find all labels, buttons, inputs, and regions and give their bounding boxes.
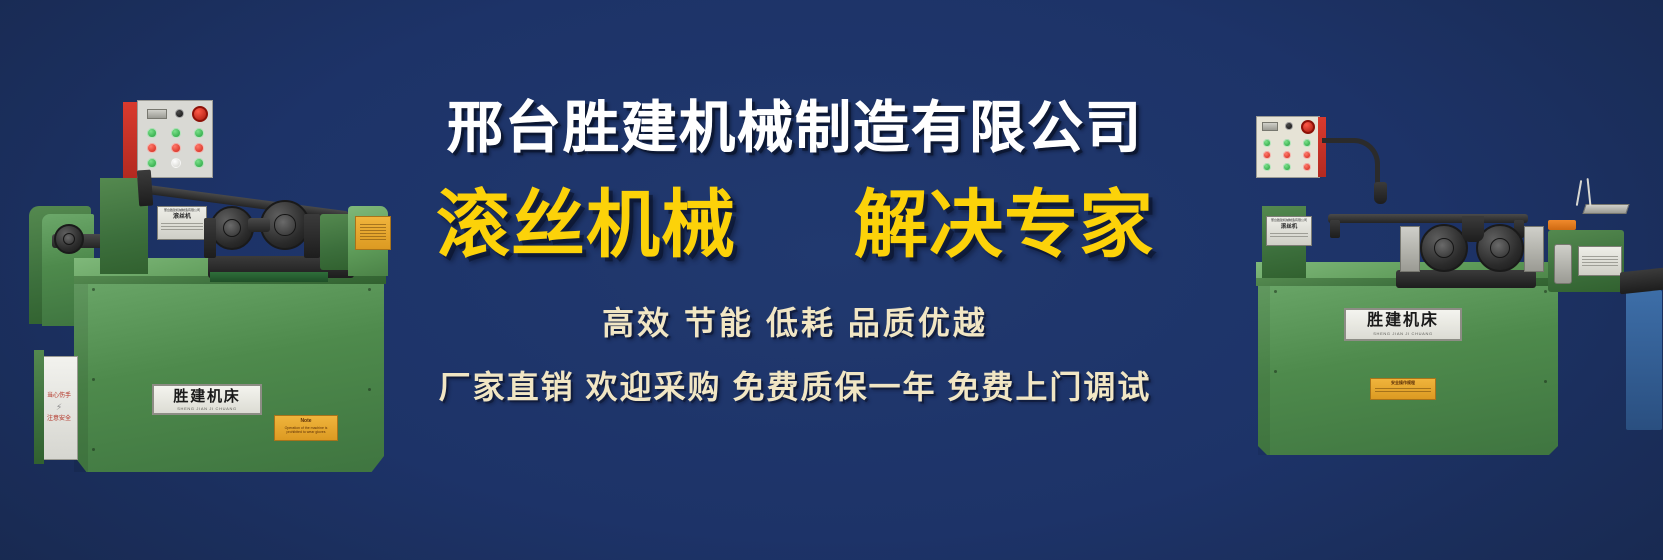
- spec-plate-rows: [1270, 233, 1308, 237]
- machine-main-body: [74, 272, 384, 472]
- nameplate-pinyin: SHENG JIAN JI CHUANG: [177, 407, 236, 411]
- die-holder-right: [1524, 226, 1544, 272]
- cable-connector: [1374, 182, 1387, 204]
- body-bolt: [1544, 380, 1547, 383]
- emergency-stop-button[interactable]: [192, 106, 208, 122]
- control-panel-face: [137, 100, 213, 178]
- selector-knob: [175, 109, 184, 118]
- feeder-spec-plate: [1578, 246, 1622, 276]
- cabinet-frame: [34, 350, 44, 464]
- spec-plate-model: 滚丝机: [161, 214, 203, 222]
- nameplate-chinese: 胜建机床: [173, 389, 240, 404]
- machine-spec-plate: 邢台胜建机械制造有限公司 滚丝机: [1266, 216, 1312, 246]
- cabinet-warning-line-1: 当心伤手: [47, 392, 71, 401]
- hydraulic-cylinder: [1554, 244, 1572, 284]
- sub-line-benefits: 高效 节能 低耗 品质优越: [602, 298, 988, 344]
- body-bolt: [1274, 290, 1277, 293]
- indicator-green-5[interactable]: [194, 158, 204, 168]
- banner-copy: 邢台胜建机械制造有限公司 滚丝机械 解决专家 高效 节能 低耗 品质优越 厂家直…: [400, 0, 1190, 560]
- promotional-banner: 邢台胜建机械制造有限公司 滚丝机 胜建机床 SHENG JIAN JI CHUA…: [0, 0, 1663, 560]
- air-line-2: [1587, 178, 1592, 206]
- indicator-green-4[interactable]: [147, 158, 157, 168]
- indicator-green-2[interactable]: [1283, 139, 1291, 147]
- electrical-cabinet-door: 当心伤手 ⚡ 注意安全: [40, 356, 78, 460]
- roller-connecting-shaft: [248, 218, 270, 232]
- body-bolt: [368, 388, 371, 391]
- warning-plate-rows: [1373, 388, 1433, 392]
- coolant-tank: [1626, 290, 1662, 430]
- sub-line-offers: 厂家直销 欢迎采购 免费质保一年 免费上门调试: [439, 362, 1152, 408]
- brand-nameplate: 胜建机床 SHENG JIAN JI CHUANG: [1344, 308, 1462, 341]
- body-bolt: [368, 288, 371, 291]
- arm-bracket: [137, 170, 153, 207]
- indicator-green-2[interactable]: [171, 128, 181, 138]
- air-line-1: [1576, 180, 1582, 206]
- roller-die-left: [1420, 224, 1468, 272]
- feeder-spec-rows: [1582, 250, 1618, 266]
- spec-plate-company: 邢台胜建机械制造有限公司: [161, 209, 203, 213]
- indicator-red-4[interactable]: [1303, 163, 1311, 171]
- indicator-green-1[interactable]: [147, 128, 157, 138]
- headline-row: 滚丝机械 解决专家: [400, 186, 1190, 264]
- indicator-red-1[interactable]: [147, 143, 157, 153]
- warning-plate-title: Note: [277, 418, 335, 424]
- warning-plate-body: 安全操作规程: [1370, 378, 1436, 400]
- indicator-green-4[interactable]: [1263, 163, 1271, 171]
- nameplate-chinese: 胜建机床: [1367, 313, 1439, 329]
- indicator-red-2[interactable]: [171, 143, 181, 153]
- spec-plate-company: 邢台胜建机械制造有限公司: [1270, 219, 1308, 223]
- body-shadow: [1258, 275, 1270, 455]
- machine-left-thread-roller: 邢台胜建机械制造有限公司 滚丝机 胜建机床 SHENG JIAN JI CHUA…: [12, 88, 412, 480]
- meter-display: [1262, 122, 1278, 131]
- cable-conduit: [1322, 138, 1380, 190]
- cabinet-warning-line-2: 注意安全: [47, 415, 71, 424]
- machine-right-thread-roller: 邢台胜建机械制造有限公司 滚丝机 胜建机床 SHENG JIAN JI CHUA…: [1248, 120, 1663, 460]
- body-bolt: [1274, 370, 1277, 373]
- control-panel-face: [1256, 116, 1320, 178]
- headline-left: 滚丝机械: [436, 186, 736, 264]
- rail-support-left: [1330, 220, 1340, 238]
- chip-tray: [210, 272, 328, 282]
- roller-base-plate: [1396, 270, 1536, 288]
- control-panel: [123, 100, 213, 178]
- warning-plate-text: Operation of the machine is prohibited t…: [277, 426, 335, 434]
- warning-plate-upper: [355, 216, 391, 250]
- indicator-red-2[interactable]: [1283, 151, 1291, 159]
- control-panel: [1256, 116, 1328, 178]
- indicator-green-3[interactable]: [1303, 139, 1311, 147]
- indicator-green-1[interactable]: [1263, 139, 1271, 147]
- warning-plate-upper-rows: [358, 219, 388, 240]
- spec-plate-model: 滚丝机: [1270, 224, 1308, 231]
- manifold-block: [1548, 220, 1576, 230]
- overhead-rail: [1328, 214, 1528, 223]
- nameplate-pinyin: SHENG JIAN JI CHUANG: [1373, 332, 1432, 336]
- roller-support-left: [204, 218, 216, 258]
- selector-knob: [1285, 122, 1293, 130]
- indicator-red-3[interactable]: [194, 143, 204, 153]
- cabinet-warning-icon: ⚡: [47, 401, 71, 415]
- brand-nameplate: 胜建机床 SHENG JIAN JI CHUANG: [152, 384, 262, 415]
- center-bracket: [1462, 216, 1484, 242]
- indicator-white-1[interactable]: [171, 158, 181, 168]
- machine-main-body: [1258, 275, 1558, 455]
- indicator-red-3[interactable]: [1303, 151, 1311, 159]
- spec-plate-rows: [161, 223, 203, 230]
- body-bolt: [1544, 290, 1547, 293]
- indicator-green-5[interactable]: [1283, 163, 1291, 171]
- roller-support-right: [304, 214, 320, 258]
- body-bolt: [92, 288, 95, 291]
- body-bolt: [92, 448, 95, 451]
- machine-spec-plate: 邢台胜建机械制造有限公司 滚丝机: [157, 206, 207, 240]
- warning-plate-text: 安全操作规程: [1373, 381, 1433, 386]
- left-end-coupling: [54, 224, 84, 254]
- emergency-stop-button[interactable]: [1301, 120, 1315, 134]
- headline-right: 解决专家: [854, 186, 1154, 264]
- discharge-chute: [1620, 268, 1663, 295]
- die-holder-left: [1400, 226, 1420, 272]
- meter-display: [147, 109, 167, 119]
- indicator-green-3[interactable]: [194, 128, 204, 138]
- warning-plate-body: Note Operation of the machine is prohibi…: [274, 415, 338, 441]
- body-bolt: [92, 378, 95, 381]
- company-title: 邢台胜建机械制造有限公司: [447, 100, 1143, 156]
- indicator-red-1[interactable]: [1263, 151, 1271, 159]
